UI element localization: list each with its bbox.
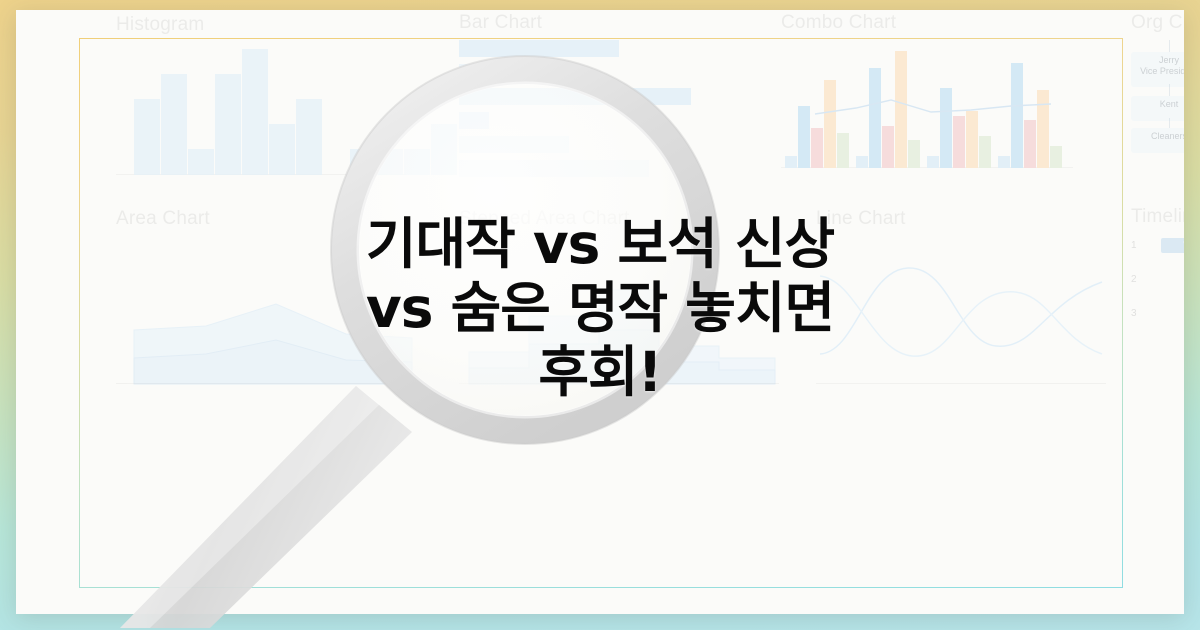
- panel-org-chart: Org Chart Jerry Vice President Kent Clea…: [1131, 12, 1184, 192]
- org-node-name: Cleaners: [1151, 131, 1184, 141]
- org-node: Cleaners: [1131, 128, 1184, 153]
- bar-chart-bar: [459, 112, 489, 129]
- org-connector: [1169, 84, 1170, 96]
- histogram-bar: [431, 124, 457, 175]
- panel-title-combo-chart: Combo Chart: [781, 12, 896, 34]
- panel-combo-chart: Combo Chart: [781, 12, 1091, 187]
- combo-chart-plot: [781, 38, 1081, 168]
- histogram-bar: [377, 149, 403, 175]
- histogram-plot: [116, 40, 406, 175]
- panel-title-histogram: Histogram: [116, 14, 204, 36]
- combo-chart-trend-line: [781, 38, 1081, 168]
- histogram-bar: [242, 49, 268, 175]
- org-node: Kent: [1131, 96, 1184, 121]
- org-chart-plot: Jerry Vice President Kent Cleaners: [1131, 38, 1184, 188]
- panel-title-bar-chart: Bar Chart: [459, 12, 542, 34]
- org-connector: [1169, 40, 1170, 52]
- histogram-bar: [215, 74, 241, 175]
- histogram-bar: [188, 149, 214, 175]
- panel-bar-chart: Bar Chart: [459, 12, 759, 187]
- poster-canvas: Histogram Bar Chart: [0, 0, 1200, 630]
- bar-chart-bar: [459, 40, 619, 57]
- org-node-role: Vice President: [1140, 66, 1184, 76]
- org-node: Jerry Vice President: [1131, 52, 1184, 87]
- bar-chart-bar: [459, 88, 691, 105]
- histogram-bar: [269, 124, 295, 175]
- org-connector: [1169, 118, 1170, 128]
- histogram-bar: [350, 149, 376, 175]
- bar-chart-bar: [459, 160, 649, 177]
- histogram-bar: [134, 99, 160, 175]
- bar-chart-bar: [459, 64, 539, 81]
- org-node-name: Kent: [1160, 99, 1179, 109]
- histogram-bar: [161, 74, 187, 175]
- org-node-name: Jerry: [1159, 55, 1179, 65]
- bar-chart-bar: [459, 136, 569, 153]
- panel-histogram: Histogram: [116, 14, 406, 189]
- panel-title-org-chart: Org Chart: [1131, 12, 1184, 34]
- page-title: 기대작 vs 보석 신상 vs 숨은 명작 놓치면 후회!: [0, 212, 1200, 404]
- histogram-bar: [296, 99, 322, 175]
- bar-chart-plot: [459, 38, 759, 178]
- histogram-bar: [404, 149, 430, 175]
